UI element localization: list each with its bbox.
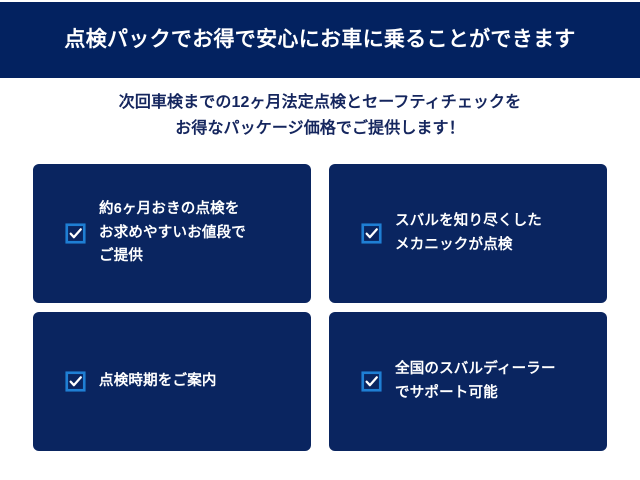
feature-card-3-text: 点検時期をご案内 [99,370,217,393]
feature-card-2: スバルを知り尽くした メカニックが点検 [329,164,607,303]
feature-card-1-line-1: 約6ヶ月おきの点検を [99,198,246,221]
subtitle-line-2: お得なパッケージ価格でご提供します！ [0,116,640,142]
subtitle-block: 次回車検までの12ヶ月法定点検とセーフティチェックを お得なパッケージ価格でご提… [0,90,640,142]
check-box-icon [65,371,86,392]
feature-card-1-line-2: お求めやすいお値段で [99,222,246,245]
page-title: 点検パックでお得で安心にお車に乗ることができます [64,27,575,52]
feature-card-3-content: 点検時期をご案内 [65,370,217,393]
feature-card-2-text: スバルを知り尽くした メカニックが点検 [395,210,542,257]
feature-card-1-line-3: ご提供 [99,245,246,268]
feature-card-1-content: 約6ヶ月おきの点検を お求めやすいお値段で ご提供 [65,198,246,268]
feature-card-4-line-2: でサポート可能 [395,382,556,405]
feature-card-4-line-1: 全国のスバルディーラー [395,358,556,381]
feature-card-2-line-1: スバルを知り尽くした [395,210,542,233]
feature-card-grid: 約6ヶ月おきの点検を お求めやすいお値段で ご提供 スバルを知り尽くした メカニ… [33,164,607,451]
feature-card-3-line-1: 点検時期をご案内 [99,370,217,393]
promo-banner: 点検パックでお得で安心にお車に乗ることができます 次回車検までの12ヶ月法定点検… [0,0,640,480]
feature-card-3: 点検時期をご案内 [33,312,311,451]
check-box-icon [65,223,86,244]
header-band: 点検パックでお得で安心にお車に乗ることができます [0,2,640,78]
feature-card-4-content: 全国のスバルディーラー でサポート可能 [361,358,556,405]
subtitle-line-1: 次回車検までの12ヶ月法定点検とセーフティチェックを [0,90,640,116]
feature-card-2-line-2: メカニックが点検 [395,234,542,257]
feature-card-2-content: スバルを知り尽くした メカニックが点検 [361,210,542,257]
feature-card-4: 全国のスバルディーラー でサポート可能 [329,312,607,451]
check-box-icon [361,223,382,244]
feature-card-1: 約6ヶ月おきの点検を お求めやすいお値段で ご提供 [33,164,311,303]
feature-card-1-text: 約6ヶ月おきの点検を お求めやすいお値段で ご提供 [99,198,246,268]
feature-card-4-text: 全国のスバルディーラー でサポート可能 [395,358,556,405]
check-box-icon [361,371,382,392]
